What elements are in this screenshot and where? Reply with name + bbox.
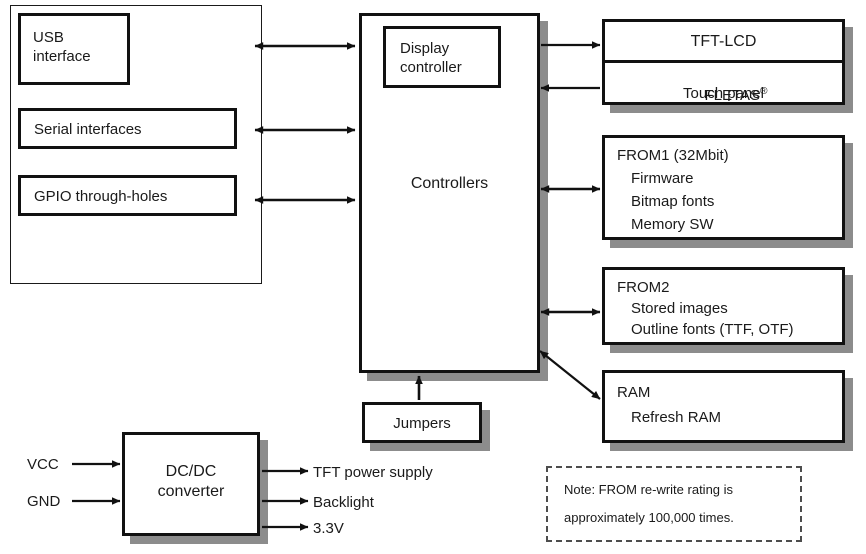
display-group-box[interactable]: TFT-LCD FLETAS® Touch panel <box>602 19 845 105</box>
dcdc-converter-label: DC/DC converter <box>125 462 257 503</box>
display-controller-label: Display controller <box>400 39 462 77</box>
from2-item-0: Stored images <box>631 299 728 318</box>
voltage-3v3-label: 3.3V <box>313 519 344 538</box>
gpio-through-holes-label: GPIO through-holes <box>34 187 167 206</box>
usb-interface-box[interactable]: USB interface <box>18 13 130 85</box>
note-line-2: approximately 100,000 times. <box>564 510 734 527</box>
gnd-input-label: GND <box>27 492 60 511</box>
from1-item-0: Firmware <box>631 169 694 188</box>
jumpers-label: Jumpers <box>365 414 479 433</box>
from1-title: FROM1 (32Mbit) <box>617 146 729 165</box>
serial-interfaces-box[interactable]: Serial interfaces <box>18 108 237 149</box>
from1-item-1: Bitmap fonts <box>631 192 714 211</box>
from1-box[interactable]: FROM1 (32Mbit) Firmware Bitmap fonts Mem… <box>602 135 845 240</box>
dcdc-converter-box[interactable]: DC/DC converter <box>122 432 260 536</box>
vcc-input-label: VCC <box>27 455 59 474</box>
display-group-divider <box>602 60 845 63</box>
gpio-through-holes-box[interactable]: GPIO through-holes <box>18 175 237 216</box>
usb-interface-label: USB interface <box>33 28 91 66</box>
backlight-label: Backlight <box>313 493 374 512</box>
note-box: Note: FROM re-write rating is approximat… <box>546 466 802 542</box>
from2-title: FROM2 <box>617 278 670 297</box>
serial-interfaces-label: Serial interfaces <box>34 120 142 139</box>
block-diagram-canvas: USB interface Serial interfaces GPIO thr… <box>0 0 866 554</box>
from2-box[interactable]: FROM2 Stored images Outline fonts (TTF, … <box>602 267 845 345</box>
ram-title: RAM <box>617 383 650 402</box>
from2-item-1: Outline fonts (TTF, OTF) <box>631 320 794 339</box>
controllers-label: Controllers <box>362 174 537 194</box>
ram-box[interactable]: RAM Refresh RAM <box>602 370 845 443</box>
ram-item-0: Refresh RAM <box>631 408 721 427</box>
jumpers-box[interactable]: Jumpers <box>362 402 482 443</box>
from1-item-2: Memory SW <box>631 215 714 234</box>
touch-panel-label-line2: Touch panel <box>605 84 842 103</box>
arrow-controllers-to-ram <box>540 351 600 399</box>
tft-power-supply-label: TFT power supply <box>313 463 433 482</box>
display-controller-box[interactable]: Display controller <box>383 26 501 88</box>
tft-lcd-label: TFT-LCD <box>605 32 842 52</box>
note-line-1: Note: FROM re-write rating is <box>564 482 733 499</box>
